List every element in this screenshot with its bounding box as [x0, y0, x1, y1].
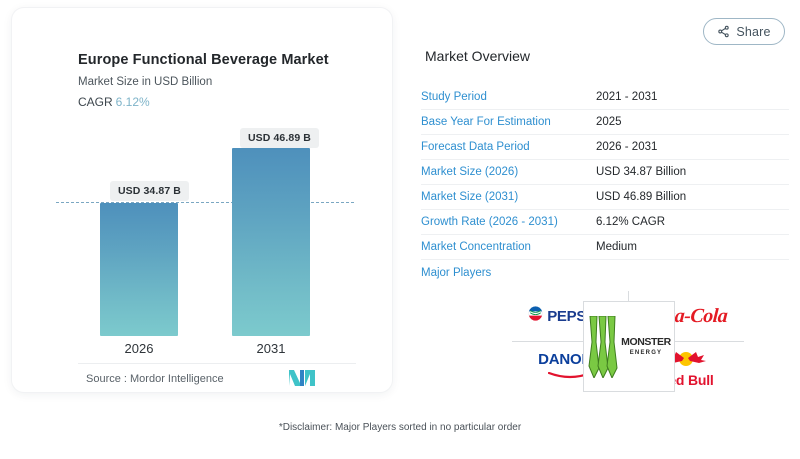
table-row: Base Year For Estimation 2025: [421, 110, 789, 135]
monster-wordmark: MONSTER: [621, 337, 671, 348]
major-players-logo-grid: PEPSICO Coca-Cola DANONE Red Bull: [512, 291, 744, 392]
row-key: Market Size (2031): [421, 191, 596, 203]
share-button[interactable]: Share: [703, 18, 785, 45]
row-key: Growth Rate (2026 - 2031): [421, 216, 596, 228]
row-key: Base Year For Estimation: [421, 116, 596, 128]
bar-2026[interactable]: [100, 203, 178, 336]
row-value: USD 34.87 Billion: [596, 166, 686, 178]
x-axis-tick-2026: 2026: [100, 341, 178, 356]
row-value: Medium: [596, 241, 637, 253]
row-value: 2026 - 2031: [596, 141, 657, 153]
pepsi-globe-icon: [528, 306, 543, 326]
share-icon: [717, 25, 730, 38]
table-row: Market Concentration Medium: [421, 235, 789, 260]
source-label: Source : Mordor Intelligence: [86, 373, 224, 385]
table-row: Market Size (2026) USD 34.87 Billion: [421, 160, 789, 185]
market-summary-page: Share Europe Functional Beverage Market …: [0, 0, 800, 459]
bar-2031[interactable]: [232, 148, 310, 336]
share-button-label: Share: [736, 25, 770, 39]
chart-card: Europe Functional Beverage Market Market…: [12, 8, 392, 392]
bar-label-2026: USD 34.87 B: [110, 181, 189, 201]
table-row: Market Size (2031) USD 46.89 Billion: [421, 185, 789, 210]
mordor-intelligence-logo: [289, 370, 315, 386]
logo-monster-energy: MONSTER ENERGY: [583, 301, 675, 392]
row-value: 6.12% CAGR: [596, 216, 665, 228]
monster-claw-icon: [587, 316, 619, 378]
row-key: Market Size (2026): [421, 166, 596, 178]
row-key: Study Period: [421, 91, 596, 103]
row-value: USD 46.89 Billion: [596, 191, 686, 203]
row-key: Forecast Data Period: [421, 141, 596, 153]
table-row: Forecast Data Period 2026 - 2031: [421, 135, 789, 160]
bar-label-2031: USD 46.89 B: [240, 128, 319, 148]
bar-chart-plot: USD 34.87 B USD 46.89 B 2026 2031: [12, 8, 392, 392]
major-players-label: Major Players: [421, 267, 596, 279]
table-row: Growth Rate (2026 - 2031) 6.12% CAGR: [421, 210, 789, 235]
row-key: Market Concentration: [421, 241, 596, 253]
market-overview-table: Study Period 2021 - 2031 Base Year For E…: [421, 85, 789, 285]
row-value: 2025: [596, 116, 622, 128]
monster-energy-subtext: ENERGY: [621, 350, 671, 356]
source-divider: [78, 363, 356, 364]
x-axis-tick-2031: 2031: [232, 341, 310, 356]
table-row-major-players: Major Players: [421, 260, 789, 285]
disclaimer-text: *Disclaimer: Major Players sorted in no …: [0, 422, 800, 433]
table-row: Study Period 2021 - 2031: [421, 85, 789, 110]
market-overview-title: Market Overview: [425, 48, 530, 64]
row-value: 2021 - 2031: [596, 91, 657, 103]
